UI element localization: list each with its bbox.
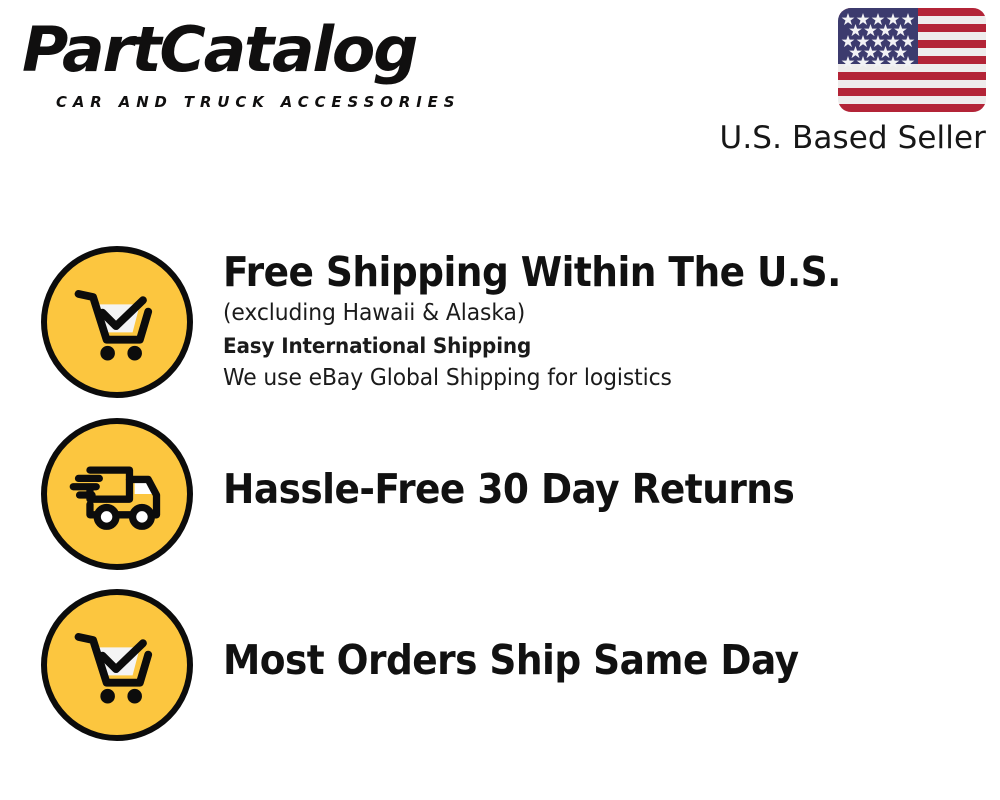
feature-subnote: (excluding Hawaii & Alaska) xyxy=(223,297,961,330)
delivery-truck-icon xyxy=(41,418,193,570)
feature-text-returns: Hassle-Free 30 Day Returns xyxy=(223,418,1000,514)
feature-title: Free Shipping Within The U.S. xyxy=(223,248,934,297)
feature-subheading: Easy International Shipping xyxy=(223,330,961,362)
brand-logo[interactable]: PartCatalog CAR AND TRUCK ACCESSORIES xyxy=(22,18,492,113)
feature-title: Most Orders Ship Same Day xyxy=(223,636,934,685)
feature-text-same-day: Most Orders Ship Same Day xyxy=(223,589,1000,685)
brand-tagline: CAR AND TRUCK ACCESSORIES xyxy=(56,94,460,111)
feature-title: Hassle-Free 30 Day Returns xyxy=(223,465,934,514)
header-bar: PartCatalog CAR AND TRUCK ACCESSORIES xyxy=(0,0,1000,175)
feature-subdetail: We use eBay Global Shipping for logistic… xyxy=(223,362,961,395)
us-based-seller-label: U.S. Based Seller xyxy=(716,119,986,157)
us-flag-icon xyxy=(838,8,986,112)
feature-text-free-shipping: Free Shipping Within The U.S. (excluding… xyxy=(223,246,1000,395)
feature-row-free-shipping: Free Shipping Within The U.S. (excluding… xyxy=(0,246,1000,398)
us-based-seller-badge: U.S. Based Seller xyxy=(716,8,986,157)
shopping-cart-check-icon xyxy=(41,589,193,741)
feature-row-returns: Hassle-Free 30 Day Returns xyxy=(0,418,1000,570)
brand-wordmark: PartCatalog xyxy=(22,18,416,82)
shopping-cart-check-icon xyxy=(41,246,193,398)
feature-row-same-day-shipping: Most Orders Ship Same Day xyxy=(0,589,1000,741)
